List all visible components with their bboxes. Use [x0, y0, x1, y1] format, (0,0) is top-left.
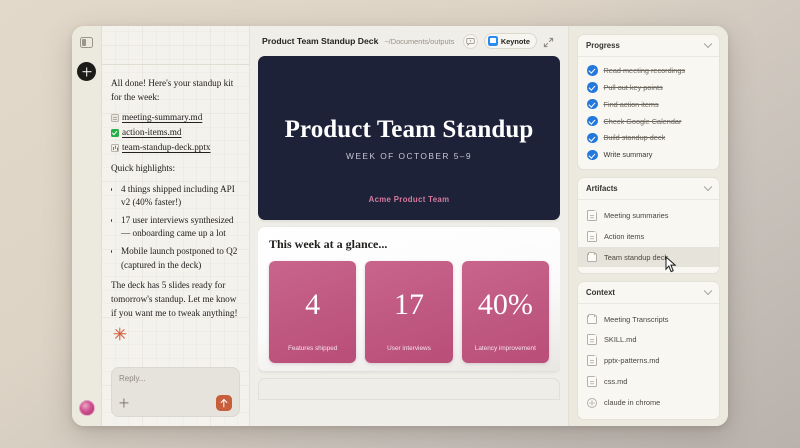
message-closing: The deck has 5 slides ready for tomorrow… — [111, 279, 240, 320]
highlights-list: 4 things shipped including API v2 (40% f… — [121, 183, 240, 273]
left-rail — [72, 26, 102, 426]
globe-icon — [587, 398, 597, 408]
artifact-item-label: Action items — [604, 232, 644, 241]
reply-input[interactable]: Reply... — [119, 374, 232, 383]
keynote-label: Keynote — [501, 37, 530, 46]
user-avatar[interactable] — [79, 400, 95, 416]
artifact-item-meeting-summaries[interactable]: Meeting summaries — [578, 205, 719, 226]
progress-item-pull-out-key-points[interactable]: Pull out key points — [578, 79, 719, 96]
progress-item-read-meeting-recordings[interactable]: Read meeting recordings — [578, 62, 719, 79]
sidebar-toggle-icon[interactable] — [80, 37, 93, 48]
slide-title-card[interactable]: Product Team Standup WEEK OF OCTOBER 5–9… — [258, 56, 560, 220]
composer-actions — [119, 395, 232, 411]
progress-list: Read meeting recordings Pull out key poi… — [578, 57, 719, 169]
document-icon — [587, 355, 597, 366]
file-link-label: team-standup-deck.pptx — [122, 141, 211, 155]
list-item: Mobile launch postponed to Q2 (captured … — [121, 245, 240, 272]
progress-item-write-summary[interactable]: Write summary — [578, 146, 719, 163]
document-icon — [587, 376, 597, 387]
send-arrow-up-icon[interactable] — [216, 395, 232, 411]
file-link-label: action-items.md — [122, 126, 181, 140]
progress-item-label: Find action items — [604, 100, 659, 109]
context-item-claude-in-chrome[interactable]: claude in chrome — [578, 392, 719, 413]
stat-card-features-shipped[interactable]: 4 Features shipped — [269, 261, 356, 363]
context-item-meeting-transcripts[interactable]: Meeting Transcripts — [578, 309, 719, 329]
document-icon — [587, 231, 597, 242]
artifacts-title: Artifacts — [586, 184, 618, 193]
conversation-panel: All done! Here's your standup kit for th… — [102, 26, 250, 426]
list-item: 17 user interviews synthesized — onboard… — [121, 214, 240, 241]
folder-icon — [587, 253, 597, 262]
reply-composer[interactable]: Reply... — [111, 367, 240, 417]
context-item-label: claude in chrome — [604, 398, 660, 407]
artifact-item-action-items[interactable]: Action items — [578, 226, 719, 247]
progress-title: Progress — [586, 41, 620, 50]
context-item-label: Meeting Transcripts — [604, 315, 669, 324]
slide-next-card-partial[interactable] — [258, 378, 560, 400]
attach-plus-icon[interactable] — [119, 398, 129, 408]
chevron-down-icon[interactable] — [704, 39, 712, 47]
check-circle-icon — [587, 82, 598, 93]
check-circle-icon — [587, 99, 598, 110]
progress-item-label: Pull out key points — [604, 83, 663, 92]
check-circle-icon — [587, 65, 598, 76]
keynote-app-chip[interactable]: Keynote — [484, 33, 537, 49]
check-circle-icon — [587, 133, 598, 144]
context-title: Context — [586, 288, 615, 297]
context-item-pptx-patterns-md[interactable]: pptx-patterns.md — [578, 350, 719, 371]
file-link-action-items[interactable]: action-items.md — [111, 126, 240, 140]
file-attachment-list: meeting-summary.md action-items.md team-… — [111, 111, 240, 155]
file-link-meeting-summary[interactable]: meeting-summary.md — [111, 111, 240, 125]
stat-label: User interviews — [365, 345, 452, 352]
conversation-message: All done! Here's your standup kit for th… — [111, 77, 240, 367]
progress-item-label: Check Google Calendar — [604, 117, 682, 126]
slide-scroll-area[interactable]: Product Team Standup WEEK OF OCTOBER 5–9… — [258, 56, 560, 426]
keynote-icon — [488, 36, 498, 46]
stat-value: 4 — [305, 290, 320, 320]
artifacts-list: Meeting summaries Action items Team stan… — [578, 200, 719, 273]
check-circle-icon — [587, 116, 598, 127]
progress-item-label: Write summary — [604, 150, 653, 159]
artifact-item-label: Meeting summaries — [604, 211, 668, 220]
stat-value: 40% — [478, 290, 533, 320]
context-panel: Context Meeting Transcripts SKILL.md ppt… — [577, 281, 720, 420]
comment-icon[interactable] — [463, 34, 478, 49]
artifact-header: Product Team Standup Deck ~/Documents/ou… — [258, 33, 560, 56]
artifacts-panel: Artifacts Meeting summaries Action items… — [577, 177, 720, 274]
context-panel-header[interactable]: Context — [578, 282, 719, 304]
stat-card-latency-improvement[interactable]: 40% Latency improvement — [462, 261, 549, 363]
expand-diagonal-icon[interactable] — [543, 35, 556, 48]
artifact-item-team-standup-deck[interactable]: Team standup deck — [578, 247, 719, 267]
app-window: All done! Here's your standup kit for th… — [72, 26, 728, 426]
artifacts-panel-header[interactable]: Artifacts — [578, 178, 719, 200]
chevron-down-icon[interactable] — [704, 182, 712, 190]
context-item-label: css.md — [604, 377, 627, 386]
slide-subheading: WEEK OF OCTOBER 5–9 — [346, 151, 472, 161]
progress-item-find-action-items[interactable]: Find action items — [578, 96, 719, 113]
stat-label: Latency improvement — [462, 345, 549, 352]
file-link-label: meeting-summary.md — [122, 111, 202, 125]
check-circle-icon — [587, 150, 598, 161]
new-conversation-plus-icon[interactable] — [77, 62, 96, 81]
file-link-standup-deck[interactable]: team-standup-deck.pptx — [111, 141, 240, 155]
progress-panel-header[interactable]: Progress — [578, 35, 719, 57]
right-sidebar: Progress Read meeting recordings Pull ou… — [568, 26, 728, 426]
artifact-path: ~/Documents/outputs — [384, 37, 456, 46]
progress-item-label: Build standup deck — [604, 133, 666, 142]
artifact-item-label: Team standup deck — [604, 253, 668, 262]
document-icon — [587, 334, 597, 345]
progress-item-check-google-calendar[interactable]: Check Google Calendar — [578, 113, 719, 130]
slide-heading: Product Team Standup — [285, 116, 534, 144]
highlights-heading: Quick highlights: — [111, 162, 240, 176]
context-item-label: pptx-patterns.md — [604, 356, 659, 365]
progress-panel: Progress Read meeting recordings Pull ou… — [577, 34, 720, 170]
sparkle-icon — [113, 327, 127, 341]
list-item: 4 things shipped including API v2 (40% f… — [121, 183, 240, 210]
conversation-divider — [102, 64, 249, 65]
slide-stats-card[interactable]: This week at a glance... 4 Features ship… — [258, 227, 560, 371]
document-icon — [587, 210, 597, 221]
document-icon — [111, 114, 119, 122]
progress-item-label: Read meeting recordings — [604, 66, 686, 75]
stat-value: 17 — [394, 290, 424, 320]
context-item-skill-md[interactable]: SKILL.md — [578, 329, 719, 350]
message-intro: All done! Here's your standup kit for th… — [111, 77, 240, 104]
chevron-down-icon[interactable] — [704, 286, 712, 294]
green-check-icon — [111, 129, 119, 137]
context-item-css-md[interactable]: css.md — [578, 371, 719, 392]
slide-footer: Acme Product Team — [258, 195, 560, 204]
folder-icon — [587, 315, 597, 324]
context-list: Meeting Transcripts SKILL.md pptx-patter… — [578, 304, 719, 419]
artifact-title: Product Team Standup Deck — [262, 36, 378, 46]
bar-chart-icon — [111, 144, 119, 152]
progress-item-build-standup-deck[interactable]: Build standup deck — [578, 130, 719, 147]
stat-label: Features shipped — [269, 345, 356, 352]
stats-row: 4 Features shipped 17 User interviews 40… — [269, 261, 549, 363]
stat-card-user-interviews[interactable]: 17 User interviews — [365, 261, 452, 363]
artifact-panel: Product Team Standup Deck ~/Documents/ou… — [250, 26, 568, 426]
stats-heading: This week at a glance... — [269, 237, 549, 252]
context-item-label: SKILL.md — [604, 335, 636, 344]
